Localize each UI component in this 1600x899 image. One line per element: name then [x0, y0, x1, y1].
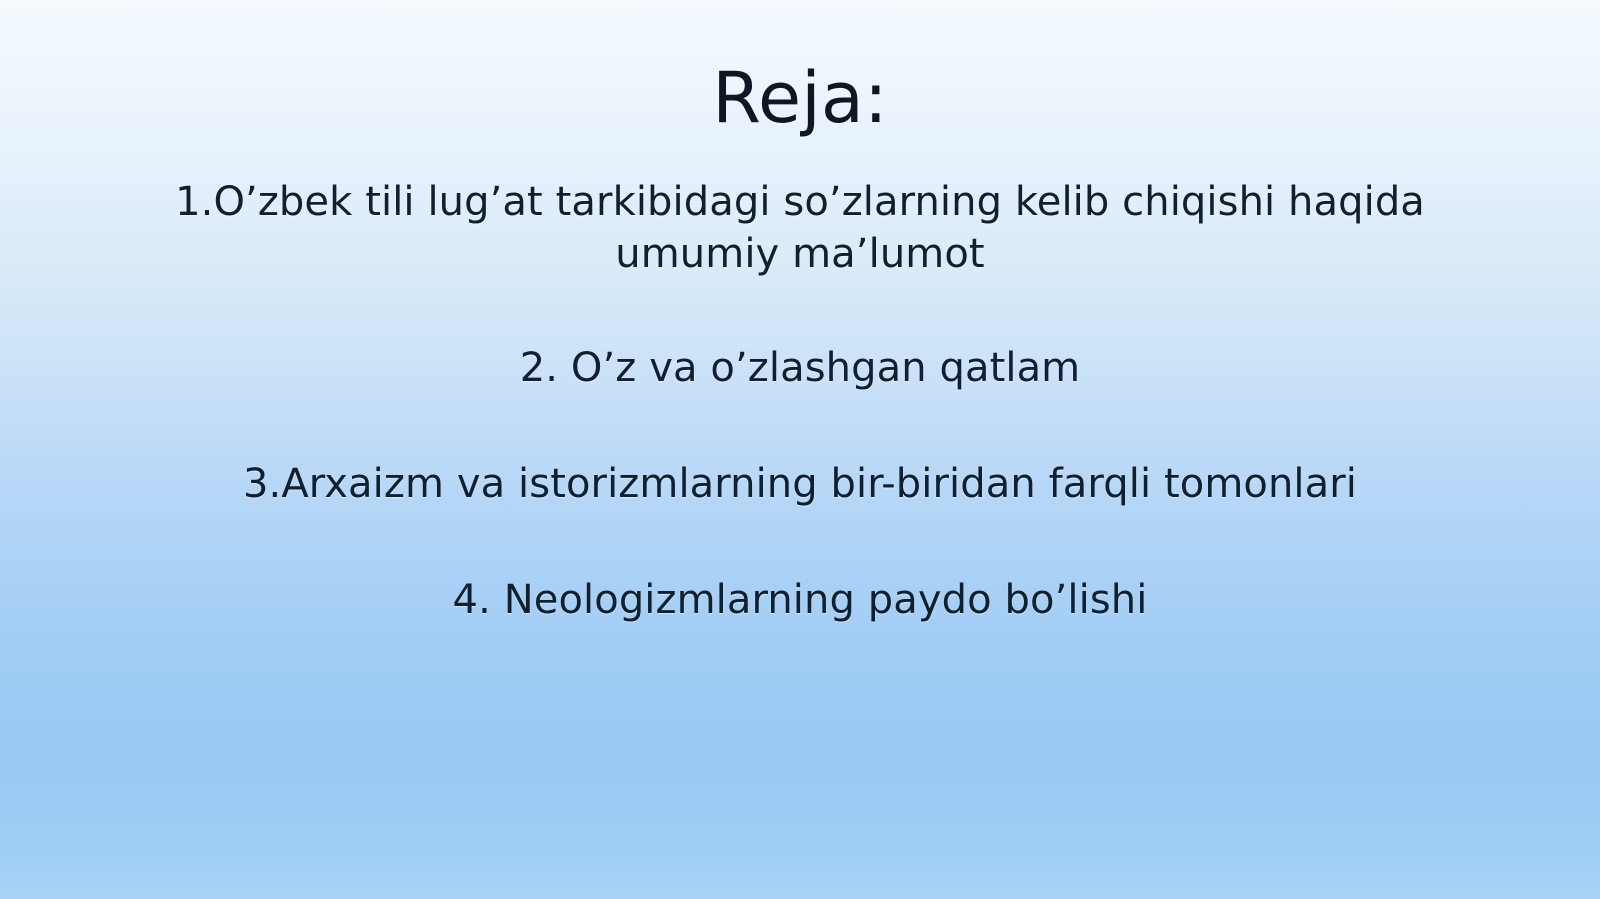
slide-content: Reja: 1.O’zbek tili lug’at tarkibidagi s… [0, 0, 1600, 899]
list-item: 1.O’zbek tili lug’at tarkibidagi so’zlar… [0, 176, 1600, 280]
list-item: 3.Arxaizm va istorizmlarning bir-biridan… [0, 458, 1600, 510]
list-item: 2. O’z va o’zlashgan qatlam [0, 342, 1600, 394]
page-title: Reja: [0, 61, 1600, 135]
presentation-slide: Reja: 1.O’zbek tili lug’at tarkibidagi s… [0, 0, 1600, 899]
agenda-list: 1.O’zbek tili lug’at tarkibidagi so’zlar… [0, 176, 1600, 626]
list-item: 4. Neologizmlarning paydo bo’lishi [0, 574, 1600, 626]
